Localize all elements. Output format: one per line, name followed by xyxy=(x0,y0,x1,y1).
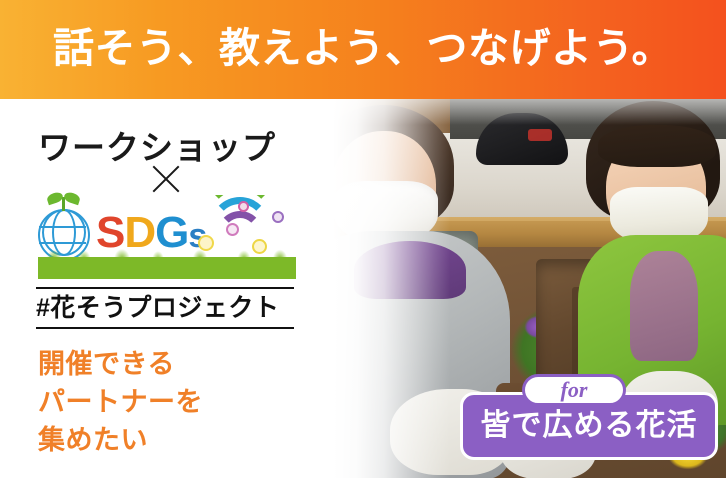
flower-icon xyxy=(228,225,237,234)
audience-badge-text: 皆で広める花活 xyxy=(460,408,718,444)
header-headline: 話そう、教えよう、つなげよう。 xyxy=(53,28,673,71)
flower-icon xyxy=(274,213,282,221)
divider-top xyxy=(36,287,294,289)
audience-badge-label: for xyxy=(522,374,626,406)
cta-line-3: 集めたい xyxy=(38,421,203,459)
divider-bottom xyxy=(36,327,294,329)
child-apron xyxy=(630,251,698,361)
header-band: 話そう、教えよう、つなげよう。 xyxy=(0,0,726,99)
info-panel: ワークショップ SDGs xyxy=(0,99,330,478)
sdgs-logo: SDGs xyxy=(30,191,298,279)
cta-text: 開催できる パートナーを 集めたい xyxy=(38,345,203,459)
leaf-icon xyxy=(63,191,81,205)
child-bangs xyxy=(598,125,716,167)
cap-logo xyxy=(528,129,552,141)
audience-badge-label-text: for xyxy=(561,379,588,401)
flower-icon xyxy=(240,203,247,210)
project-hashtag: #花そうプロジェクト xyxy=(36,291,298,325)
grass-band xyxy=(38,257,296,279)
promo-banner: 話そう、教えよう、つなげよう。 xyxy=(0,0,726,478)
cta-line-1: 開催できる xyxy=(38,345,203,383)
cta-line-2: パートナーを xyxy=(38,383,203,421)
